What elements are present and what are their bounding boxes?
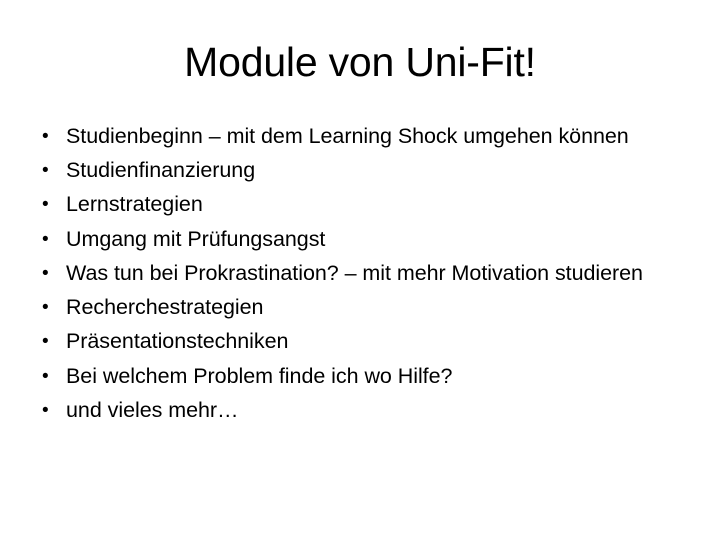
list-item: • Umgang mit Prüfungsangst bbox=[38, 227, 688, 253]
bullet-point-icon: • bbox=[42, 227, 56, 253]
bullet-point-icon: • bbox=[42, 295, 56, 321]
bullet-point-icon: • bbox=[42, 398, 56, 424]
list-item-label: Recherchestrategien bbox=[66, 295, 688, 321]
bullet-point-icon: • bbox=[42, 364, 56, 390]
list-item: • Präsentationstechniken bbox=[38, 329, 688, 355]
list-item: • Bei welchem Problem finde ich wo Hilfe… bbox=[38, 364, 688, 390]
list-item: • Was tun bei Prokrastination? – mit meh… bbox=[38, 261, 688, 287]
presentation-slide: Module von Uni-Fit! • Studienbeginn – mi… bbox=[0, 0, 720, 539]
list-item-label: Was tun bei Prokrastination? – mit mehr … bbox=[66, 261, 688, 287]
list-item: • Studienbeginn – mit dem Learning Shock… bbox=[38, 124, 688, 150]
list-item-label: Studienbeginn – mit dem Learning Shock u… bbox=[66, 124, 688, 150]
list-item-label: Umgang mit Prüfungsangst bbox=[66, 227, 688, 253]
bullet-point-icon: • bbox=[42, 261, 56, 287]
bullet-list: • Studienbeginn – mit dem Learning Shock… bbox=[38, 124, 688, 433]
list-item-label: Studienfinanzierung bbox=[66, 158, 688, 184]
list-item-label: und vieles mehr… bbox=[66, 398, 688, 424]
list-item: • Recherchestrategien bbox=[38, 295, 688, 321]
list-item: • Studienfinanzierung bbox=[38, 158, 688, 184]
bullet-point-icon: • bbox=[42, 158, 56, 184]
list-item-label: Bei welchem Problem finde ich wo Hilfe? bbox=[66, 364, 688, 390]
list-item-label: Lernstrategien bbox=[66, 192, 688, 218]
list-item: • Lernstrategien bbox=[38, 192, 688, 218]
bullet-point-icon: • bbox=[42, 329, 56, 355]
list-item-label: Präsentationstechniken bbox=[66, 329, 688, 355]
bullet-point-icon: • bbox=[42, 192, 56, 218]
list-item: • und vieles mehr… bbox=[38, 398, 688, 424]
bullet-point-icon: • bbox=[42, 124, 56, 150]
page-title: Module von Uni-Fit! bbox=[0, 38, 720, 86]
